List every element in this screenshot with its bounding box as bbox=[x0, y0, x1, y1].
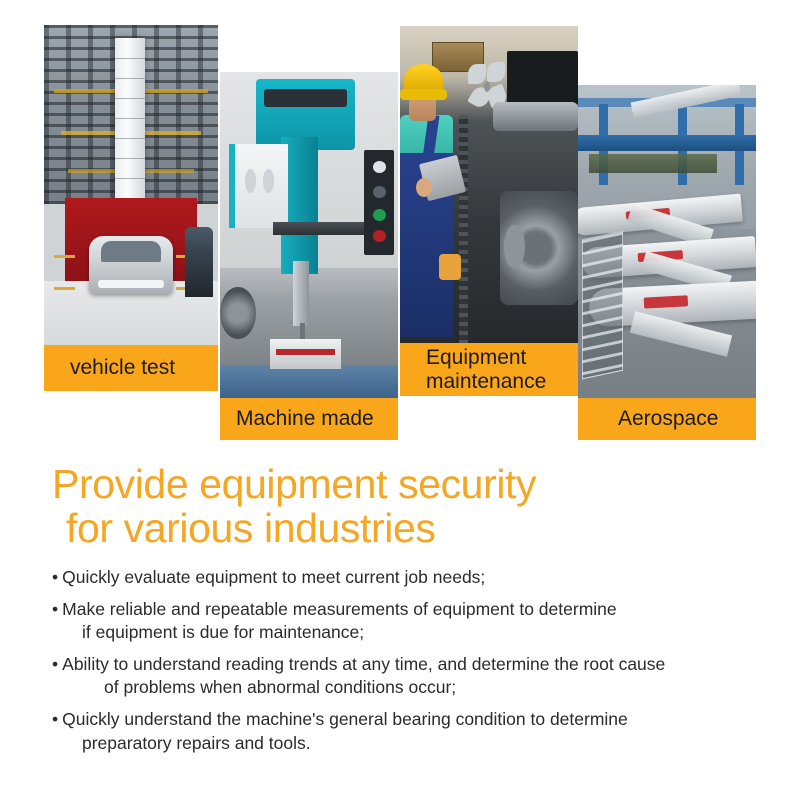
guard-rail-left bbox=[54, 255, 75, 290]
photo-aerospace bbox=[578, 85, 756, 398]
headline-line-2: for various industries bbox=[52, 506, 752, 550]
large-flywheel bbox=[500, 191, 578, 305]
bullet-marker-icon: • bbox=[52, 567, 58, 587]
bullet-text: Ability to understand reading trends at … bbox=[62, 654, 665, 674]
caption-vehicle-test: vehicle test bbox=[44, 345, 218, 391]
bullet-continuation-text: if equipment is due for maintenance; bbox=[52, 621, 762, 644]
caption-aerospace-label: Aerospace bbox=[618, 407, 718, 431]
bullet-item: •Quickly evaluate equipment to meet curr… bbox=[52, 566, 762, 589]
bullet-text: Quickly understand the machine's general… bbox=[62, 709, 628, 729]
vertical-rack bbox=[459, 115, 468, 343]
machine-quill bbox=[293, 261, 309, 326]
maintenance-scaffolding bbox=[582, 231, 623, 379]
background-equipment-row bbox=[589, 154, 717, 173]
caption-vehicle-test-label: vehicle test bbox=[70, 356, 175, 380]
plant-workers bbox=[185, 227, 213, 297]
silver-car bbox=[89, 236, 173, 294]
caption-equipment-maintenance-label-line1: Equipment bbox=[426, 346, 526, 370]
headline-line-1: Provide equipment security bbox=[52, 461, 536, 507]
bullet-main-line: •Quickly evaluate equipment to meet curr… bbox=[52, 566, 762, 589]
overhead-duct bbox=[115, 38, 145, 204]
lathe-chuck bbox=[220, 287, 256, 339]
bullet-continuation-text: of problems when abnormal conditions occ… bbox=[52, 676, 762, 699]
caption-machine-made-label: Machine made bbox=[236, 407, 374, 431]
bullet-continuation-text: preparatory repairs and tools. bbox=[52, 732, 762, 755]
bullet-main-line: •Make reliable and repeatable measuremen… bbox=[52, 598, 762, 621]
caption-machine-made: Machine made bbox=[220, 398, 398, 440]
headline: Provide equipment security for various i… bbox=[52, 462, 752, 551]
caption-aerospace: Aerospace bbox=[578, 398, 756, 440]
bullet-item: •Ability to understand reading trends at… bbox=[52, 653, 762, 699]
bullet-marker-icon: • bbox=[52, 709, 58, 729]
feature-bullet-list: •Quickly evaluate equipment to meet curr… bbox=[52, 566, 762, 764]
machine-front-panel bbox=[229, 144, 288, 229]
marketing-banner: vehicle test Machine made Equipment main… bbox=[0, 0, 800, 800]
bullet-marker-icon: • bbox=[52, 654, 58, 674]
hangar-cross-beam bbox=[578, 135, 756, 151]
workshop-floor bbox=[220, 365, 398, 398]
photo-machine-made bbox=[220, 72, 398, 398]
machine-housing bbox=[507, 51, 578, 105]
photo-equipment-maintenance bbox=[400, 26, 578, 343]
bullet-main-line: •Ability to understand reading trends at… bbox=[52, 653, 762, 676]
metal-cylinder bbox=[493, 102, 578, 131]
bullet-item: •Quickly understand the machine's genera… bbox=[52, 708, 762, 754]
caption-equipment-maintenance-label-line2: maintenance bbox=[426, 370, 546, 394]
yellow-hard-hat bbox=[404, 64, 443, 96]
bullet-text: Quickly evaluate equipment to meet curre… bbox=[62, 567, 485, 587]
bullet-item: •Make reliable and repeatable measuremen… bbox=[52, 598, 762, 644]
bullet-marker-icon: • bbox=[52, 599, 58, 619]
workpiece-vise bbox=[270, 339, 341, 368]
machine-control-box bbox=[364, 150, 394, 254]
bullet-main-line: •Quickly understand the machine's genera… bbox=[52, 708, 762, 731]
bullet-text: Make reliable and repeatable measurement… bbox=[62, 599, 617, 619]
caption-equipment-maintenance: Equipment maintenance bbox=[400, 343, 578, 396]
work-glove bbox=[439, 254, 460, 279]
photo-vehicle-test bbox=[44, 25, 218, 345]
